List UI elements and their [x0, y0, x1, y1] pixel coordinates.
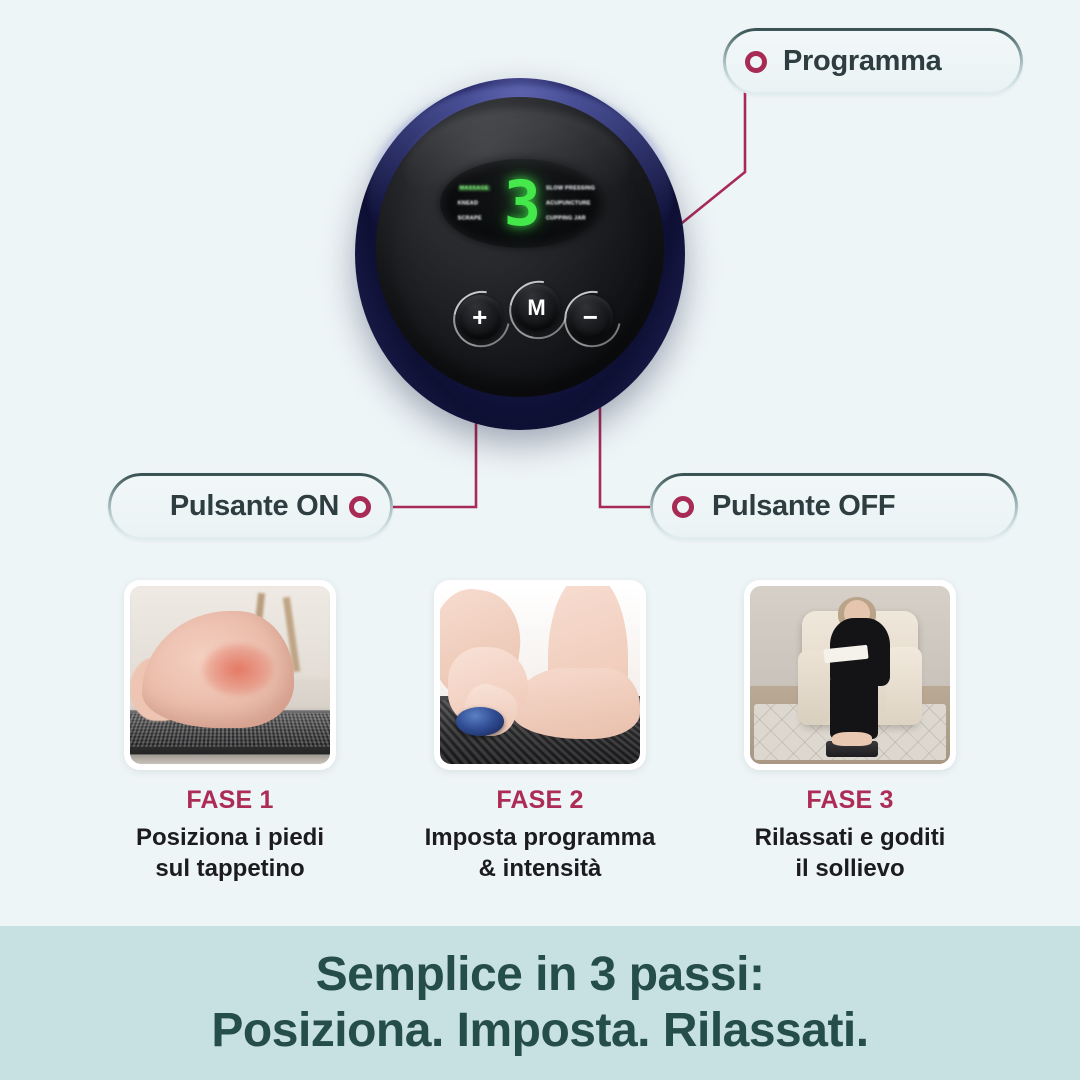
callout-marker-dot [672, 496, 694, 518]
step-2-title: FASE 2 [496, 786, 583, 815]
increase-intensity-button[interactable]: + [457, 295, 503, 340]
step-3-image-frame [744, 580, 956, 770]
display-right-labels: SLOW PRESSING ACUPUNCTURE CUPPING JAR [546, 185, 595, 222]
display-label-scrape: SCRAPE [458, 216, 482, 222]
display-left-labels: MASSAGE KNEAD SCRAPE [458, 185, 491, 222]
display-label-massage: MASSAGE [458, 185, 491, 191]
woman-relaxing-illustration [750, 586, 950, 764]
step-2-image [440, 586, 640, 764]
step-1-description: Posiziona i piedi sul tappetino [136, 823, 324, 884]
mode-button[interactable]: M [513, 284, 560, 330]
callout-pulsante-off[interactable]: Pulsante OFF [650, 473, 1018, 540]
banner-line-1: Semplice in 3 passi: [316, 947, 765, 1003]
callout-marker-dot [745, 51, 767, 73]
hand-pressing-controller-illustration [440, 586, 640, 764]
plus-icon: + [472, 304, 487, 330]
step-3-description: Rilassati e goditi il sollievo [755, 823, 946, 884]
step-card-1: FASE 1 Posiziona i piedi sul tappetino [114, 580, 346, 910]
display-label-cupping-jar: CUPPING JAR [546, 216, 586, 222]
bottom-banner: Semplice in 3 passi: Posiziona. Imposta.… [0, 926, 1080, 1080]
step-3-title: FASE 3 [806, 786, 893, 815]
callout-programma-label: Programma [783, 45, 941, 78]
display-program-number: 3 [504, 173, 539, 235]
display-label-knead: KNEAD [458, 200, 479, 206]
step-1-image-frame [124, 580, 336, 770]
callout-pulsante-on-label: Pulsante ON [170, 490, 339, 523]
display-label-acupuncture: ACUPUNCTURE [546, 200, 591, 206]
callout-pulsante-off-label: Pulsante OFF [712, 490, 895, 523]
step-1-image [130, 586, 330, 764]
callout-marker-dot [349, 496, 371, 518]
step-card-2: FASE 2 Imposta programma & intensità [424, 580, 656, 910]
device-controller: MASSAGE KNEAD SCRAPE 3 SLOW PRESSING ACU… [355, 78, 685, 430]
step-3-image [750, 586, 950, 764]
step-1-title: FASE 1 [186, 786, 273, 815]
foot-on-ems-mat-illustration [130, 586, 330, 764]
minus-icon: − [583, 304, 598, 330]
callout-programma[interactable]: Programma [723, 28, 1023, 95]
step-2-description: Imposta programma & intensità [425, 823, 656, 884]
device-diagram-section: MASSAGE KNEAD SCRAPE 3 SLOW PRESSING ACU… [0, 0, 1080, 922]
device-face: MASSAGE KNEAD SCRAPE 3 SLOW PRESSING ACU… [376, 97, 663, 396]
step-2-image-frame [434, 580, 646, 770]
step-card-3: FASE 3 Rilassati e goditi il sollievo [734, 580, 966, 910]
device-display-screen: MASSAGE KNEAD SCRAPE 3 SLOW PRESSING ACU… [440, 159, 604, 249]
banner-line-2: Posiziona. Imposta. Rilassati. [211, 1003, 868, 1059]
display-label-slow-pressing: SLOW PRESSING [546, 185, 595, 191]
steps-row: FASE 1 Posiziona i piedi sul tappetino [0, 580, 1080, 910]
decrease-intensity-button[interactable]: − [567, 295, 613, 340]
mode-m-icon: M [527, 297, 545, 319]
callout-pulsante-on[interactable]: Pulsante ON [108, 473, 393, 540]
